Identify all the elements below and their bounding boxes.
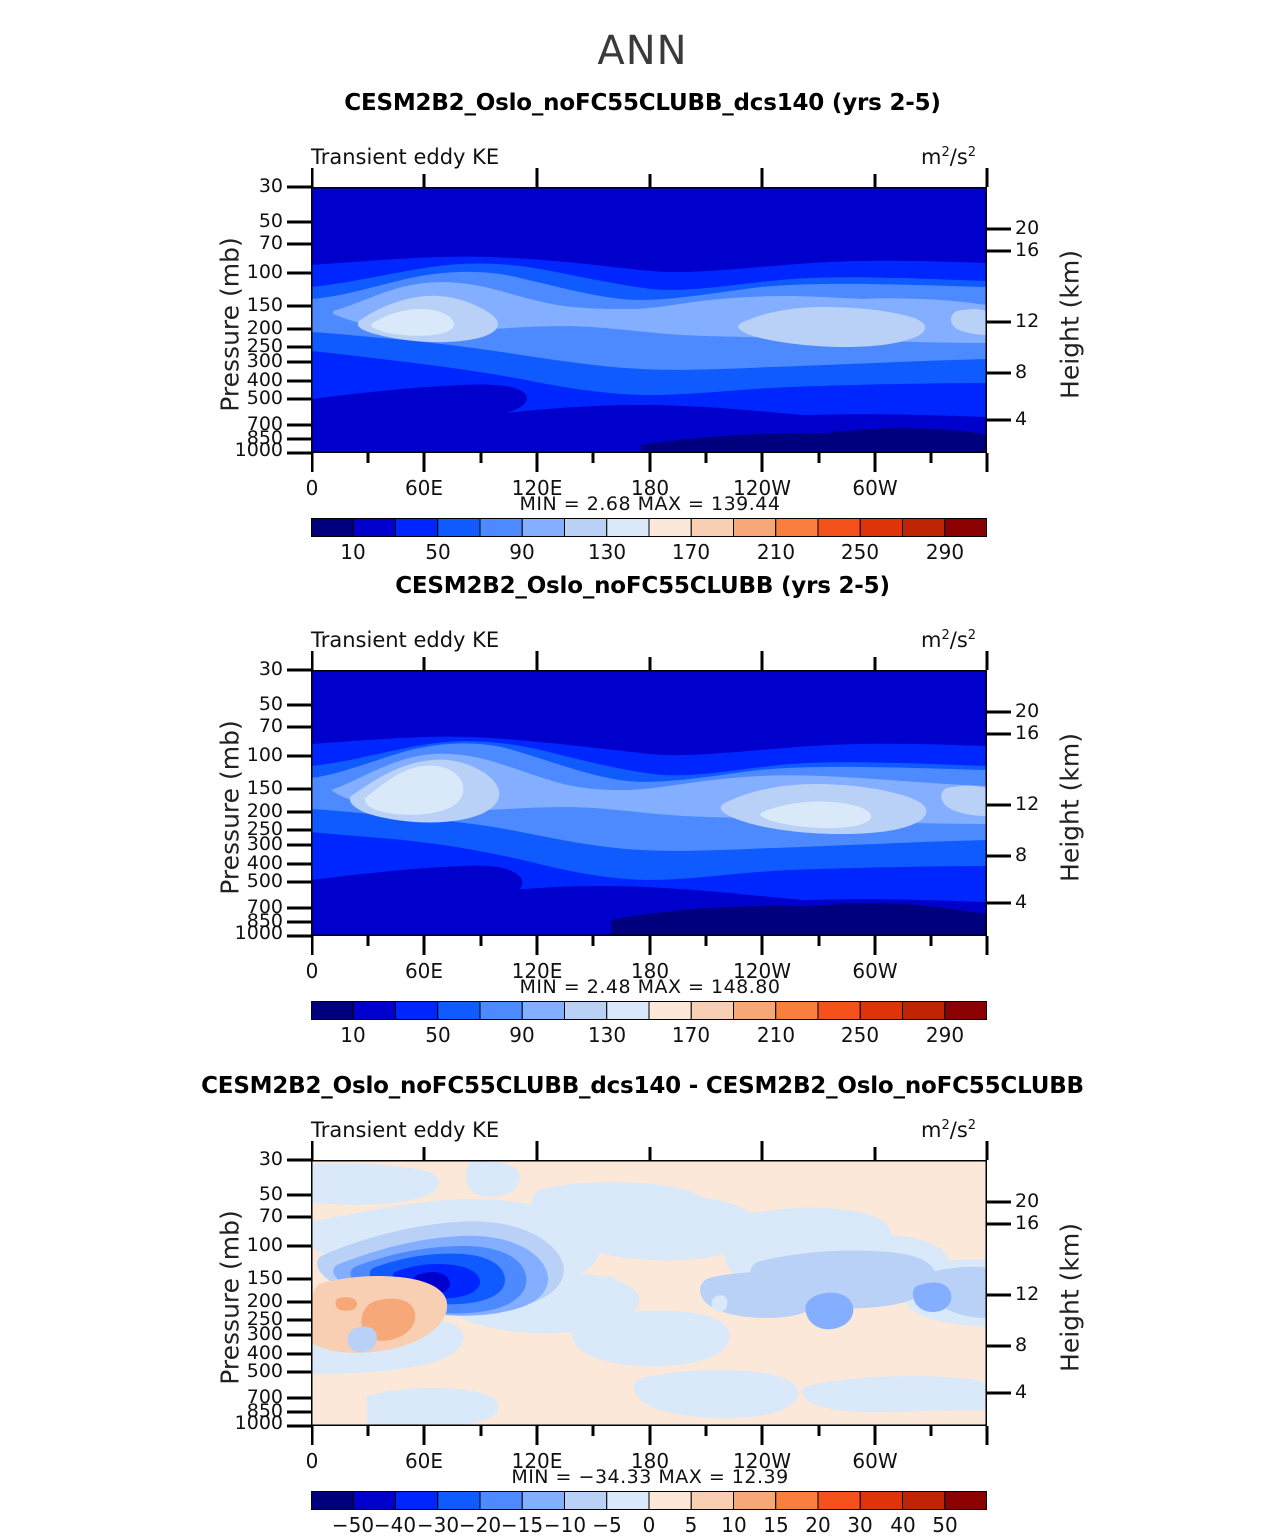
panel-2-right-tick-marks — [985, 663, 1011, 945]
panel-1-bottom-tick-marks — [311, 453, 991, 475]
panel-3-right-tick-marks — [985, 1153, 1011, 1435]
panel-3-bottom-tick-marks — [311, 1426, 991, 1448]
panel-3-left-tick-marks — [287, 1153, 313, 1435]
panel-1-top-tick-marks — [311, 166, 991, 188]
panel-2-title: CESM2B2_Oslo_noFC55CLUBB (yrs 2-5) — [0, 573, 1285, 599]
panel-2-plot-area — [311, 670, 987, 936]
panel-2-contour-svg — [311, 670, 987, 936]
panel-1-plot-area — [311, 187, 987, 453]
panel-1-title: CESM2B2_Oslo_noFC55CLUBB_dcs140 (yrs 2-5… — [0, 90, 1285, 116]
panel-3-plot-area — [311, 1160, 987, 1426]
panel-difference-3: CESM2B2_Oslo_noFC55CLUBB_dcs140 - CESM2B… — [0, 963, 1285, 1531]
panel-1-contour-svg — [311, 187, 987, 453]
panel-1-right-tick-marks — [985, 180, 1011, 462]
panel-3-colorbar-swatches — [311, 1491, 987, 1510]
panel-2-bottom-tick-marks — [311, 936, 991, 958]
panel-3-colorbar[interactable] — [311, 1491, 987, 1510]
panel-2-top-tick-marks — [311, 649, 991, 671]
panel-3-contour-svg — [311, 1160, 987, 1426]
panel-3-minmax: MIN = −34.33 MAX = 12.39 — [511, 1466, 788, 1488]
panel-3-title: CESM2B2_Oslo_noFC55CLUBB_dcs140 - CESM2B… — [0, 1073, 1285, 1099]
panel-2-left-tick-marks — [287, 663, 313, 945]
panel-1-left-tick-marks — [287, 180, 313, 462]
panel-3-top-tick-marks — [311, 1139, 991, 1161]
